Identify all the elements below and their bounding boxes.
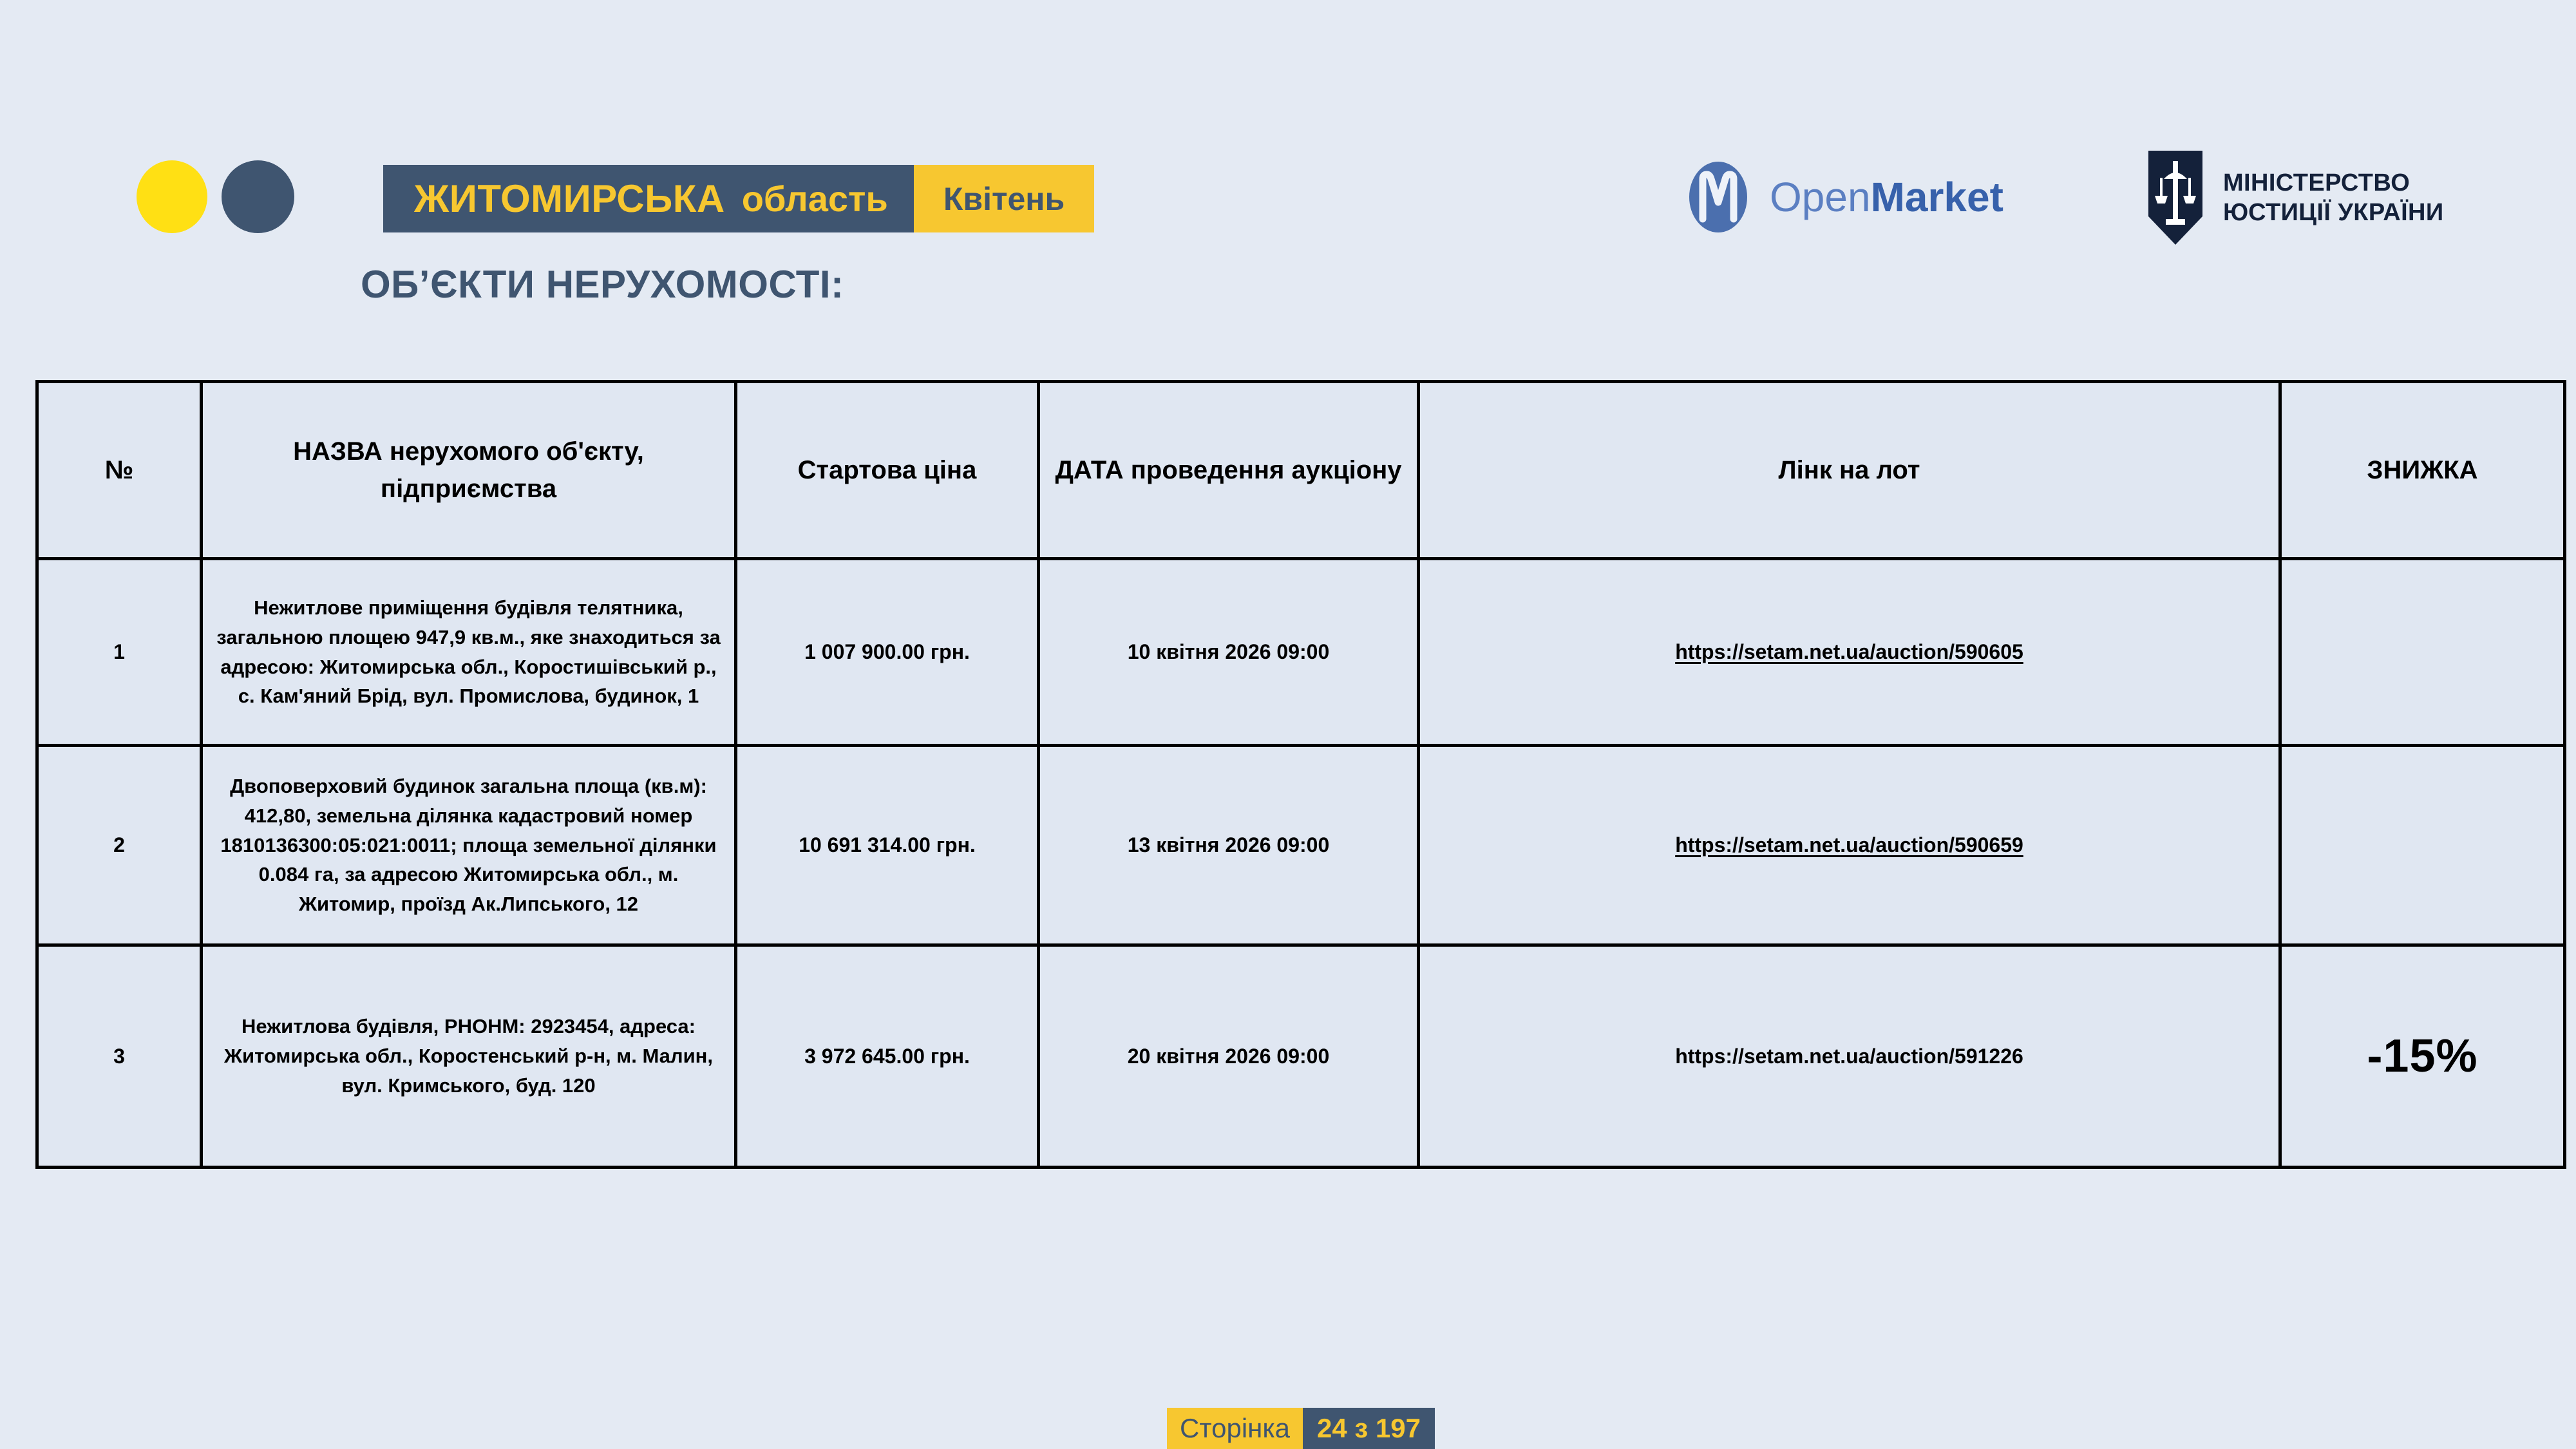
page-number: 24 з 197 xyxy=(1303,1408,1435,1449)
row-start-price: 10 691 314.00 грн. xyxy=(736,746,1039,945)
ministry-justice-shield-icon xyxy=(2145,149,2206,246)
col-header-number: № xyxy=(37,382,202,559)
page-header: ЖИТОМИРСЬКА область Квітень OpenMarket xyxy=(0,0,2576,277)
openmarket-m-icon xyxy=(1681,160,1756,234)
lots-table-wrapper: № НАЗВА нерухомого об'єкту, підприємства… xyxy=(35,380,2563,1169)
month-badge: Квітень xyxy=(914,165,1094,232)
row-start-price: 1 007 900.00 грн. xyxy=(736,559,1039,746)
table-header-row: № НАЗВА нерухомого об'єкту, підприємства… xyxy=(37,382,2565,559)
col-header-name: НАЗВА нерухомого об'єкту, підприємства xyxy=(202,382,736,559)
region-banner: ЖИТОМИРСЬКА область Квітень xyxy=(383,165,1094,232)
row-auction-date: 20 квітня 2026 09:00 xyxy=(1039,945,1419,1168)
openmarket-wordmark: OpenMarket xyxy=(1770,176,2003,218)
row-discount xyxy=(2280,746,2565,945)
table-row: 2 Двоповерховий будинок загальна площа (… xyxy=(37,746,2565,945)
col-header-price: Стартова ціна xyxy=(736,382,1039,559)
row-number: 1 xyxy=(37,559,202,746)
lot-link[interactable]: https://setam.net.ua/auction/590659 xyxy=(1675,833,2023,857)
table-row: 1 Нежитлове приміщення будівля телятника… xyxy=(37,559,2565,746)
row-start-price: 3 972 645.00 грн. xyxy=(736,945,1039,1168)
row-object-name: Двоповерховий будинок загальна площа (кв… xyxy=(202,746,736,945)
ministry-of-justice-logo: МІНІСТЕРСТВО ЮСТИЦІЇ УКРАЇНИ xyxy=(2145,149,2444,246)
decor-dot-navy-icon xyxy=(222,160,294,233)
table-row: 3 Нежитлова будівля, РНОНМ: 2923454, адр… xyxy=(37,945,2565,1168)
row-object-name: Нежитлова будівля, РНОНМ: 2923454, адрес… xyxy=(202,945,736,1168)
row-discount: -15% xyxy=(2280,945,2565,1168)
openmarket-open-text: Open xyxy=(1770,174,1871,220)
col-header-link: Лінк на лот xyxy=(1419,382,2280,559)
row-lot-link-cell: https://setam.net.ua/auction/591226 xyxy=(1419,945,2280,1168)
ministry-justice-wordmark: МІНІСТЕРСТВО ЮСТИЦІЇ УКРАЇНИ xyxy=(2223,168,2444,228)
page-title: ОБ’ЄКТИ НЕРУХОМОСТІ: xyxy=(361,265,844,304)
month-label: Квітень xyxy=(943,183,1065,215)
region-word: область xyxy=(742,181,888,217)
lot-link[interactable]: https://setam.net.ua/auction/590605 xyxy=(1675,640,2023,663)
row-auction-date: 10 квітня 2026 09:00 xyxy=(1039,559,1419,746)
openmarket-logo: OpenMarket xyxy=(1681,160,2003,234)
row-lot-link-cell: https://setam.net.ua/auction/590659 xyxy=(1419,746,2280,945)
ministry-line-1: МІНІСТЕРСТВО xyxy=(2223,168,2444,198)
ministry-line-2: ЮСТИЦІЇ УКРАЇНИ xyxy=(2223,198,2444,227)
row-number: 3 xyxy=(37,945,202,1168)
page-footer: Сторінка 24 з 197 xyxy=(1167,1408,1435,1449)
col-header-date: ДАТА проведення аукціону xyxy=(1039,382,1419,559)
row-auction-date: 13 квітня 2026 09:00 xyxy=(1039,746,1419,945)
col-header-discount: ЗНИЖКА xyxy=(2280,382,2565,559)
openmarket-market-text: Market xyxy=(1871,174,2003,220)
row-discount xyxy=(2280,559,2565,746)
row-lot-link-cell: https://setam.net.ua/auction/590605 xyxy=(1419,559,2280,746)
lot-link[interactable]: https://setam.net.ua/auction/591226 xyxy=(1675,1045,2023,1068)
region-name: ЖИТОМИРСЬКА xyxy=(414,180,725,218)
region-banner-navy-part: ЖИТОМИРСЬКА область xyxy=(383,165,914,232)
lots-table: № НАЗВА нерухомого об'єкту, підприємства… xyxy=(35,380,2566,1169)
row-object-name: Нежитлове приміщення будівля телятника, … xyxy=(202,559,736,746)
row-number: 2 xyxy=(37,746,202,945)
page-label: Сторінка xyxy=(1167,1408,1303,1449)
decor-dot-yellow-icon xyxy=(137,160,207,233)
